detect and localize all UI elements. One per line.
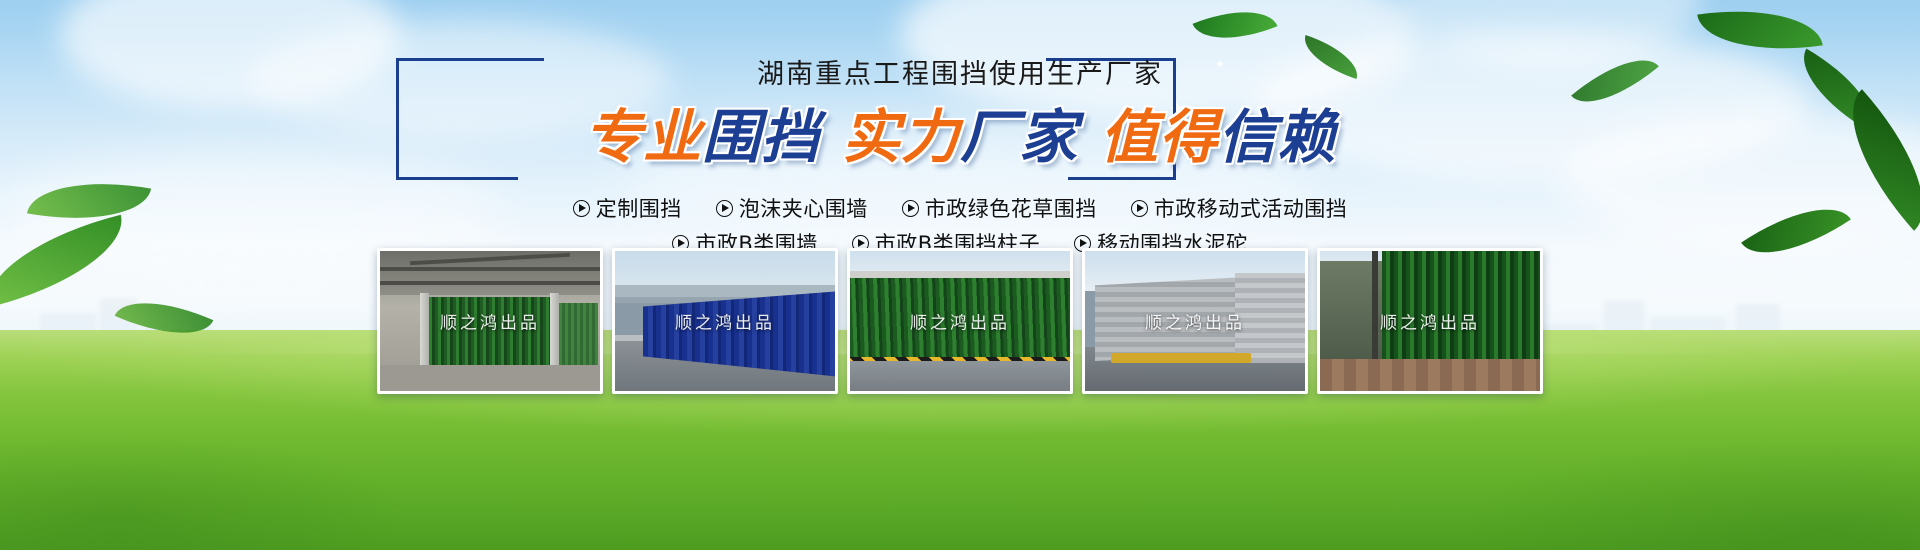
photo-content	[380, 251, 600, 391]
product-photo[interactable]: 顺之鸿出品	[612, 248, 838, 394]
banner-subtitle: 湖南重点工程围挡使用生产厂家	[0, 52, 1920, 91]
headline-seg-2a: 实力	[842, 90, 960, 174]
headline-seg-2b: 厂家	[960, 90, 1078, 174]
headline-zone: 湖南重点工程围挡使用生产厂家 专业围挡实力厂家值得信赖	[0, 46, 1920, 196]
bullet-item[interactable]: 泡沫夹心围墙	[716, 193, 868, 223]
product-photo[interactable]: 顺之鸿出品	[847, 248, 1073, 394]
photo-content	[850, 251, 1070, 391]
promo-banner: ✦ ✦ 湖南重点工程围挡使用生产厂家 专业围挡实力厂家值得信赖 定制围挡 泡沫夹…	[0, 0, 1920, 550]
bullet-label: 市政移动式活动围挡	[1154, 193, 1348, 223]
headline-seg-1b: 围挡	[702, 90, 820, 174]
product-photo[interactable]: 顺之鸿出品	[1317, 248, 1543, 394]
bullet-label: 定制围挡	[596, 193, 682, 223]
play-triangle-icon	[716, 200, 733, 217]
product-photo[interactable]: 顺之鸿出品	[1082, 248, 1308, 394]
banner-headline: 专业围挡实力厂家值得信赖	[0, 90, 1920, 174]
play-triangle-icon	[902, 200, 919, 217]
play-triangle-icon	[573, 200, 590, 217]
headline-seg-1a: 专业	[584, 90, 702, 174]
bullet-item[interactable]: 市政绿色花草围挡	[902, 193, 1097, 223]
photo-content	[615, 251, 835, 391]
product-photo[interactable]: 顺之鸿出品	[377, 248, 603, 394]
photo-content	[1320, 251, 1540, 391]
bullet-row-1: 定制围挡 泡沫夹心围墙 市政绿色花草围挡 市政移动式活动围挡	[0, 193, 1920, 223]
bullet-item[interactable]: 定制围挡	[573, 193, 682, 223]
bullet-item[interactable]: 市政移动式活动围挡	[1131, 193, 1348, 223]
headline-seg-3b: 信赖	[1218, 90, 1336, 174]
play-triangle-icon	[1131, 200, 1148, 217]
product-photo-strip: 顺之鸿出品 顺之鸿出品	[0, 248, 1920, 398]
bullet-label: 市政绿色花草围挡	[925, 193, 1097, 223]
photo-content	[1085, 251, 1305, 391]
headline-seg-3a: 值得	[1100, 90, 1218, 174]
bullet-label: 泡沫夹心围墙	[739, 193, 868, 223]
